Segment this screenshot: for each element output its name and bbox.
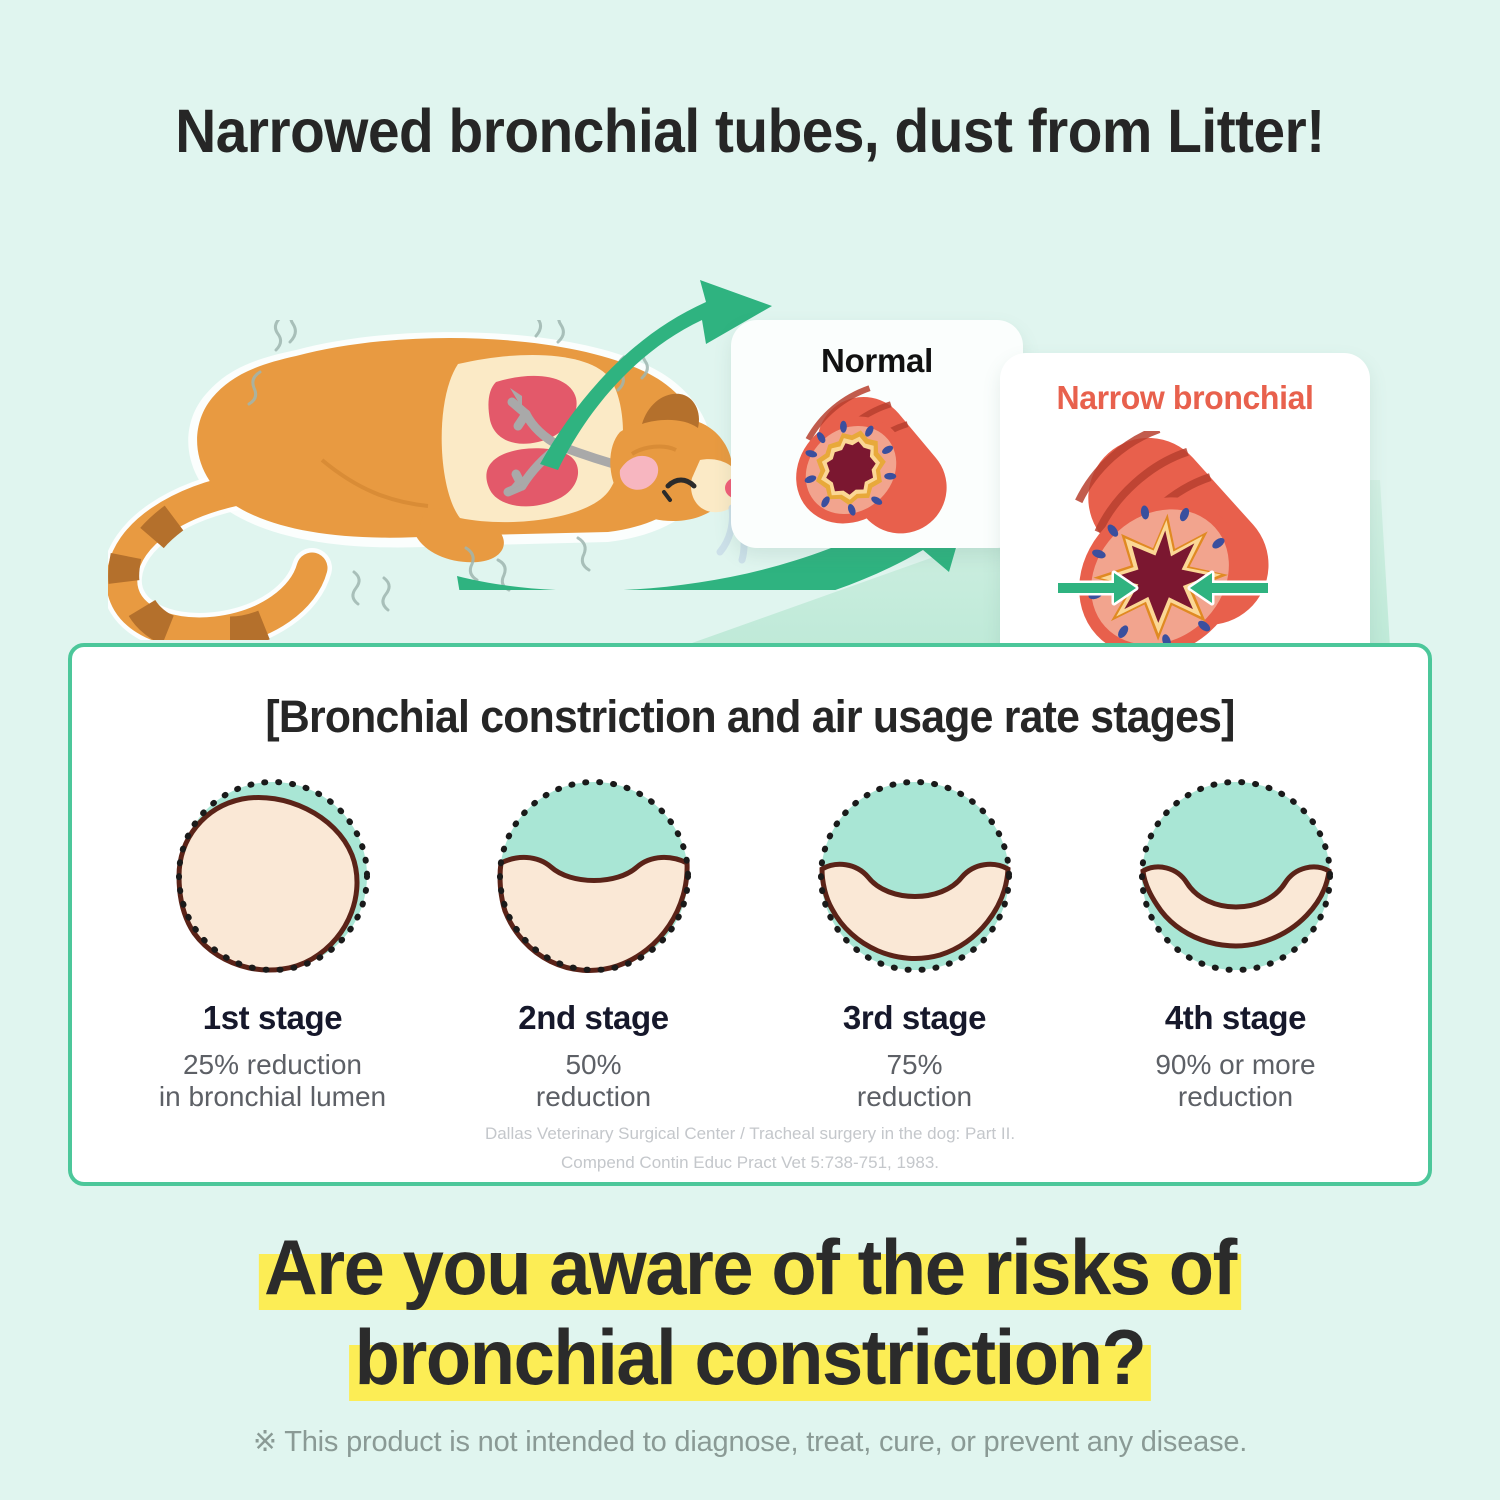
stage-4-diagram: [1127, 767, 1345, 985]
stage-item-1: 1st stage 25% reduction in bronchial lum…: [123, 767, 423, 1114]
stage-item-3: 3rd stage 75% reduction: [765, 767, 1065, 1114]
infographic-root: Narrowed bronchial tubes, dust from Litt…: [0, 0, 1500, 1500]
headline-line-2: bronchial constriction?: [38, 1312, 1463, 1402]
disclaimer-text: ※ This product is not intended to diagno…: [0, 1424, 1500, 1459]
stage-item-2: 2nd stage 50% reduction: [444, 767, 744, 1114]
stage-4-name: 4th stage: [1086, 999, 1386, 1037]
stage-4-desc: 90% or more reduction: [1086, 1049, 1386, 1114]
normal-bronchial-figure: [769, 382, 987, 542]
panel-narrow-label: Narrow bronchial: [1006, 379, 1365, 417]
hero-diagram: Normal: [0, 150, 1500, 670]
stage-item-4: 4th stage 90% or more reduction: [1086, 767, 1386, 1114]
panel-normal-label: Normal: [731, 342, 1023, 380]
stage-2-name: 2nd stage: [444, 999, 744, 1037]
footer-headline: Are you aware of the risks of bronchial …: [0, 1222, 1500, 1403]
stage-3-name: 3rd stage: [765, 999, 1065, 1037]
stats-card-title: [Bronchial constriction and air usage ra…: [106, 691, 1394, 743]
stage-3-desc: 75% reduction: [765, 1049, 1065, 1114]
citation-text: Dallas Veterinary Surgical Center / Trac…: [72, 1120, 1428, 1178]
stage-2-diagram: [485, 767, 703, 985]
panel-normal: Normal: [731, 320, 1023, 548]
stats-card: [Bronchial constriction and air usage ra…: [68, 643, 1432, 1186]
stage-2-desc: 50% reduction: [444, 1049, 744, 1114]
stage-list: 1st stage 25% reduction in bronchial lum…: [112, 767, 1396, 1114]
stage-3-diagram: [806, 767, 1024, 985]
stage-1-diagram: [164, 767, 382, 985]
stage-1-name: 1st stage: [123, 999, 423, 1037]
stage-1-desc: 25% reduction in bronchial lumen: [123, 1049, 423, 1114]
headline-line-1: Are you aware of the risks of: [38, 1222, 1463, 1312]
